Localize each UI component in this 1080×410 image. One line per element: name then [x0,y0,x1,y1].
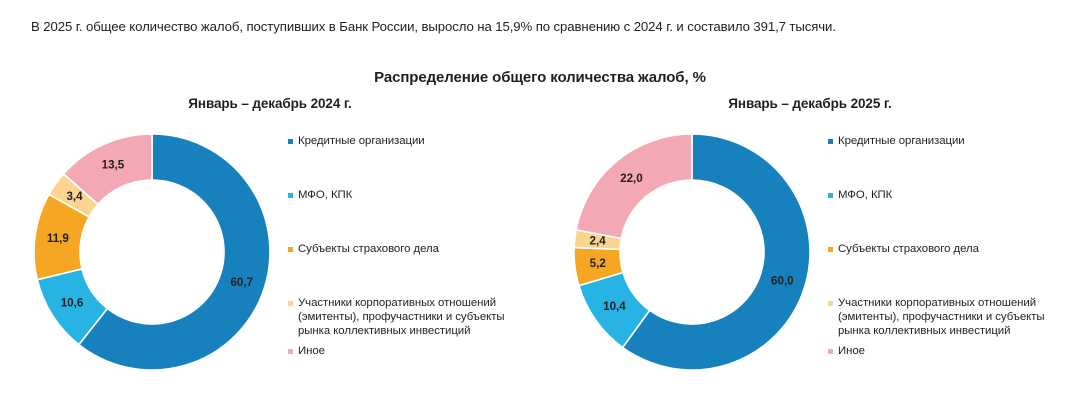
legend-item-label: МФО, КПК [298,188,352,202]
chart-panel-2025: Январь – декабрь 2025 г. 60,010,45,22,42… [550,96,1080,396]
legend-item-label: Участники корпоративных отношений (эмите… [838,296,1073,339]
legend-bullet-icon [288,349,293,354]
legend-bullet-icon [828,349,833,354]
donut-chart-2025: 60,010,45,22,422,0 [562,122,822,382]
legend-bullet-icon [288,247,293,252]
donut-chart-2024: 60,710,611,93,413,5 [22,122,282,382]
legend-item-label: Кредитные организации [298,134,425,148]
slice-value-label: 22,0 [620,172,643,185]
legend-item[interactable]: МФО, КПК [288,188,533,202]
donut-svg-2025: 60,010,45,22,422,0 [562,122,822,382]
legend-item-label: Субъекты страхового дела [298,242,439,256]
slice-value-label: 10,6 [61,296,84,309]
legend-bullet-icon [288,193,293,198]
panel-title-2024: Январь – декабрь 2024 г. [10,96,530,111]
slice-value-label: 60,0 [771,274,794,287]
legend-item[interactable]: Кредитные организации [828,134,1073,148]
legend-item[interactable]: Субъекты страхового дела [288,242,533,256]
slice-value-label: 3,4 [66,190,83,203]
legend-bullet-icon [828,301,833,306]
legend-item[interactable]: Участники корпоративных отношений (эмите… [288,296,533,339]
slice-value-label: 5,2 [590,257,606,270]
panel-title-2025: Январь – декабрь 2025 г. [550,96,1070,111]
legend-item-label: Иное [838,344,865,358]
legend-item-label: Иное [298,344,325,358]
legend-bullet-icon [828,193,833,198]
legend-item[interactable]: Субъекты страхового дела [828,242,1073,256]
chart-panel-2024: Январь – декабрь 2024 г. 60,710,611,93,4… [10,96,540,396]
legend-item[interactable]: Кредитные организации [288,134,533,148]
legend-bullet-icon [288,139,293,144]
intro-paragraph: В 2025 г. общее количество жалоб, поступ… [31,18,836,36]
legend-item[interactable]: Участники корпоративных отношений (эмите… [828,296,1073,339]
legend-bullet-icon [828,139,833,144]
slice-value-label: 11,9 [47,232,69,245]
legend-item-label: Участники корпоративных отношений (эмите… [298,296,533,339]
legend-bullet-icon [828,247,833,252]
slice-value-label: 60,7 [230,276,253,289]
donut-svg-2024: 60,710,611,93,413,5 [22,122,282,382]
legend-item-label: Кредитные организации [838,134,965,148]
legend-item[interactable]: Иное [288,344,533,358]
slice-value-label: 2,4 [590,234,607,247]
legend-item-label: МФО, КПК [838,188,892,202]
chart-title: Распределение общего количества жалоб, % [0,69,1080,86]
slice-value-label: 13,5 [102,158,125,171]
legend-item[interactable]: Иное [828,344,1073,358]
donut-slice [576,134,692,239]
slice-value-label: 10,4 [603,300,626,313]
legend-item-label: Субъекты страхового дела [838,242,979,256]
legend-item[interactable]: МФО, КПК [828,188,1073,202]
legend-bullet-icon [288,301,293,306]
